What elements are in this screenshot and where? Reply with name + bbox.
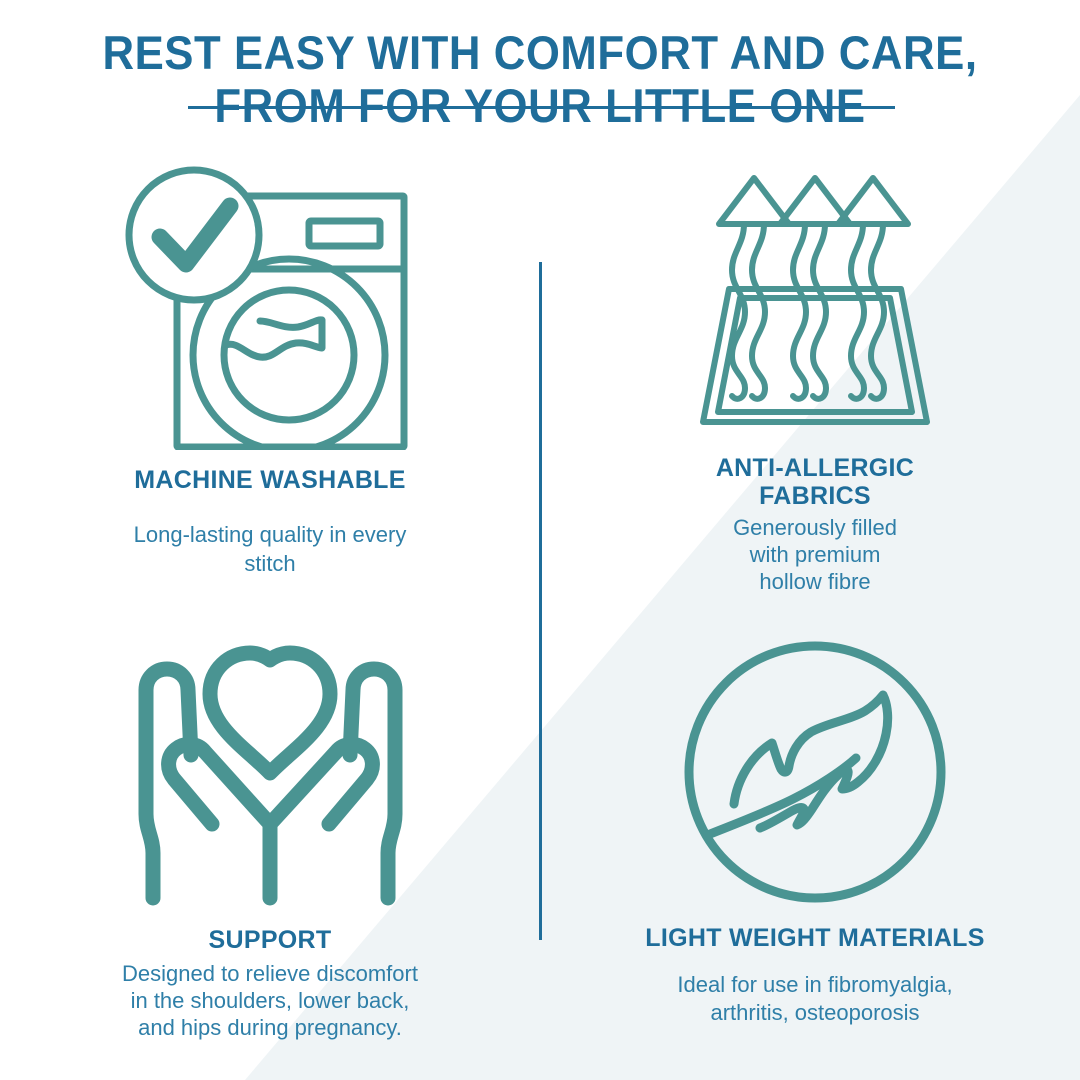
hands-holding-heart-icon bbox=[128, 628, 413, 908]
page-title-line-1: REST EASY WITH COMFORT AND CARE, bbox=[38, 26, 1042, 79]
page-title: REST EASY WITH COMFORT AND CARE, FROM FO… bbox=[0, 26, 1080, 132]
feature-anti-allergic: ANTI-ALLERGIC FABRICS Generously filled … bbox=[585, 172, 1045, 595]
description-line: stitch bbox=[40, 549, 500, 578]
feature-machine-washable: MACHINE WASHABLE Long-lasting quality in… bbox=[40, 165, 500, 578]
feature-heading-line: FABRICS bbox=[585, 482, 1045, 510]
title-underline bbox=[188, 106, 895, 109]
description-line: and hips during pregnancy. bbox=[40, 1014, 500, 1041]
description-line: hollow fibre bbox=[585, 568, 1045, 595]
infographic-page: REST EASY WITH COMFORT AND CARE, FROM FO… bbox=[0, 0, 1080, 1080]
feature-heading: LIGHT WEIGHT MATERIALS bbox=[585, 924, 1045, 953]
description-line: Generously filled bbox=[585, 514, 1045, 541]
washing-machine-check-icon bbox=[120, 165, 420, 450]
feature-heading: MACHINE WASHABLE bbox=[40, 466, 500, 495]
feather-in-circle-icon bbox=[675, 632, 955, 912]
feature-light-weight: LIGHT WEIGHT MATERIALS Ideal for use in … bbox=[585, 632, 1045, 1027]
description-line: Designed to relieve discomfort bbox=[40, 960, 500, 987]
vertical-divider bbox=[539, 262, 542, 940]
feature-description: Ideal for use in fibromyalgia, arthritis… bbox=[585, 971, 1045, 1027]
content-layer: REST EASY WITH COMFORT AND CARE, FROM FO… bbox=[0, 0, 1080, 1080]
feature-support: SUPPORT Designed to relieve discomfort i… bbox=[40, 628, 500, 1041]
feature-heading-line: ANTI-ALLERGIC bbox=[585, 454, 1045, 482]
feature-description: Designed to relieve discomfort in the sh… bbox=[40, 960, 500, 1041]
feature-heading: SUPPORT bbox=[40, 926, 500, 955]
description-line: Long-lasting quality in every bbox=[40, 520, 500, 549]
feature-description: Generously filled with premium hollow fi… bbox=[585, 514, 1045, 595]
feature-heading: ANTI-ALLERGIC FABRICS bbox=[585, 454, 1045, 510]
description-line: arthritis, osteoporosis bbox=[585, 999, 1045, 1027]
breathable-fabric-arrows-icon bbox=[685, 172, 945, 444]
feature-description: Long-lasting quality in every stitch bbox=[40, 520, 500, 578]
description-line: with premium bbox=[585, 541, 1045, 568]
description-line: in the shoulders, lower back, bbox=[40, 987, 500, 1014]
description-line: Ideal for use in fibromyalgia, bbox=[585, 971, 1045, 999]
